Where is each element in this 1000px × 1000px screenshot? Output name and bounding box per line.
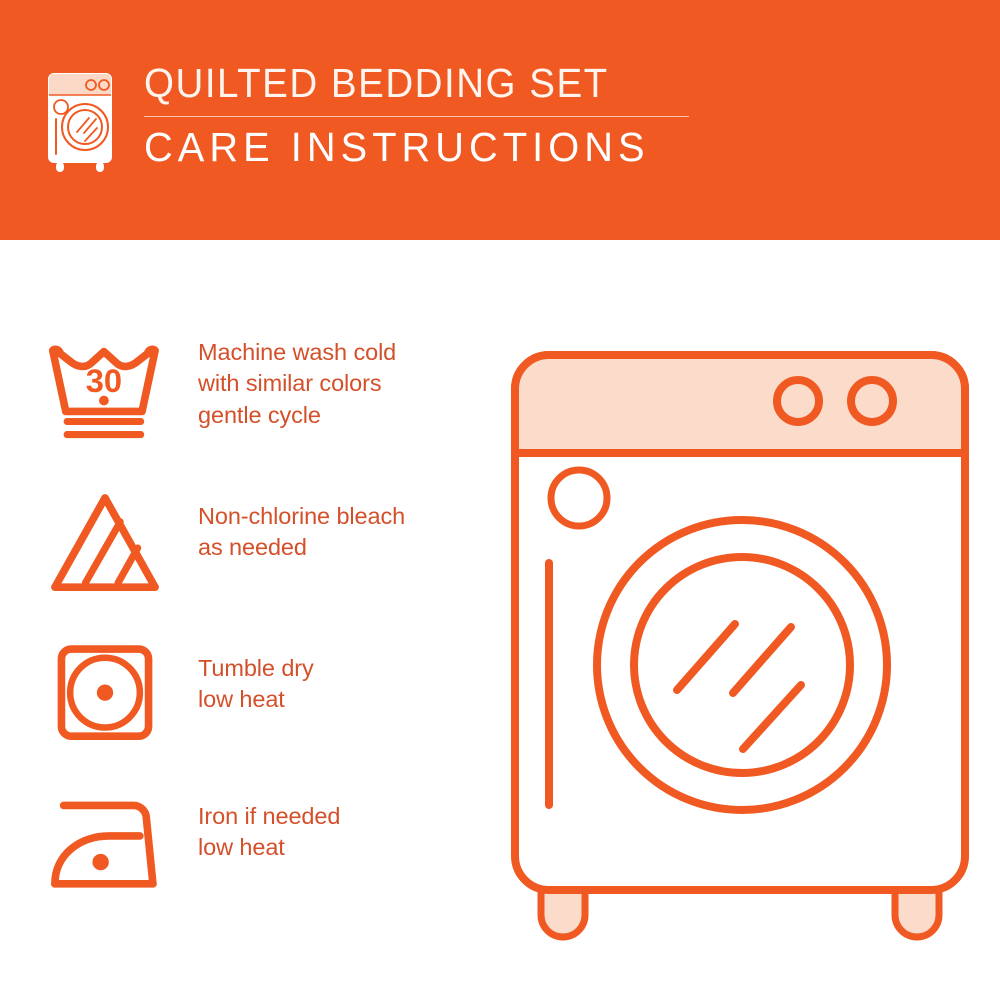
care-row: Tumble dry low heat — [44, 635, 464, 785]
washing-machine-illustration — [495, 335, 985, 945]
care-row: Non-chlorine bleach as needed — [44, 485, 464, 635]
care-text: Iron if needed low heat — [198, 785, 340, 864]
care-instructions-page: QUILTED BEDDING SET CARE INSTRUCTIONS — [0, 0, 1000, 1000]
iron-low-heat-icon — [44, 785, 166, 895]
tumble-dry-low-heat-icon — [44, 635, 166, 745]
care-text-line: as needed — [198, 532, 405, 563]
washing-machine-icon — [44, 70, 116, 174]
care-text: Machine wash cold with similar colors ge… — [198, 335, 396, 431]
care-text: Non-chlorine bleach as needed — [198, 485, 405, 564]
care-text-line: Machine wash cold — [198, 337, 396, 368]
care-instruction-list: 30 Machine wash cold with similar colors… — [44, 335, 464, 935]
care-text: Tumble dry low heat — [198, 635, 314, 716]
care-row: Iron if needed low heat — [44, 785, 464, 935]
care-text-line: with similar colors — [198, 368, 396, 399]
body-area: 30 Machine wash cold with similar colors… — [0, 240, 1000, 1000]
care-text-line: low heat — [198, 684, 314, 715]
wash-tub-30-gentle-icon: 30 — [44, 335, 166, 445]
header-titles: QUILTED BEDDING SET CARE INSTRUCTIONS — [144, 60, 689, 169]
header-content: QUILTED BEDDING SET CARE INSTRUCTIONS — [44, 60, 689, 174]
header-band: QUILTED BEDDING SET CARE INSTRUCTIONS — [0, 0, 1000, 240]
care-text-line: Iron if needed — [198, 801, 340, 832]
care-text-line: gentle cycle — [198, 400, 396, 431]
care-text-line: Tumble dry — [198, 653, 314, 684]
wash-temperature-label: 30 — [86, 362, 122, 399]
page-title: QUILTED BEDDING SET — [144, 62, 656, 105]
care-text-line: low heat — [198, 832, 340, 863]
non-chlorine-bleach-triangle-icon — [44, 485, 166, 595]
page-subtitle: CARE INSTRUCTIONS — [144, 126, 673, 169]
title-divider — [144, 116, 689, 117]
care-row: 30 Machine wash cold with similar colors… — [44, 335, 464, 485]
care-text-line: Non-chlorine bleach — [198, 501, 405, 532]
